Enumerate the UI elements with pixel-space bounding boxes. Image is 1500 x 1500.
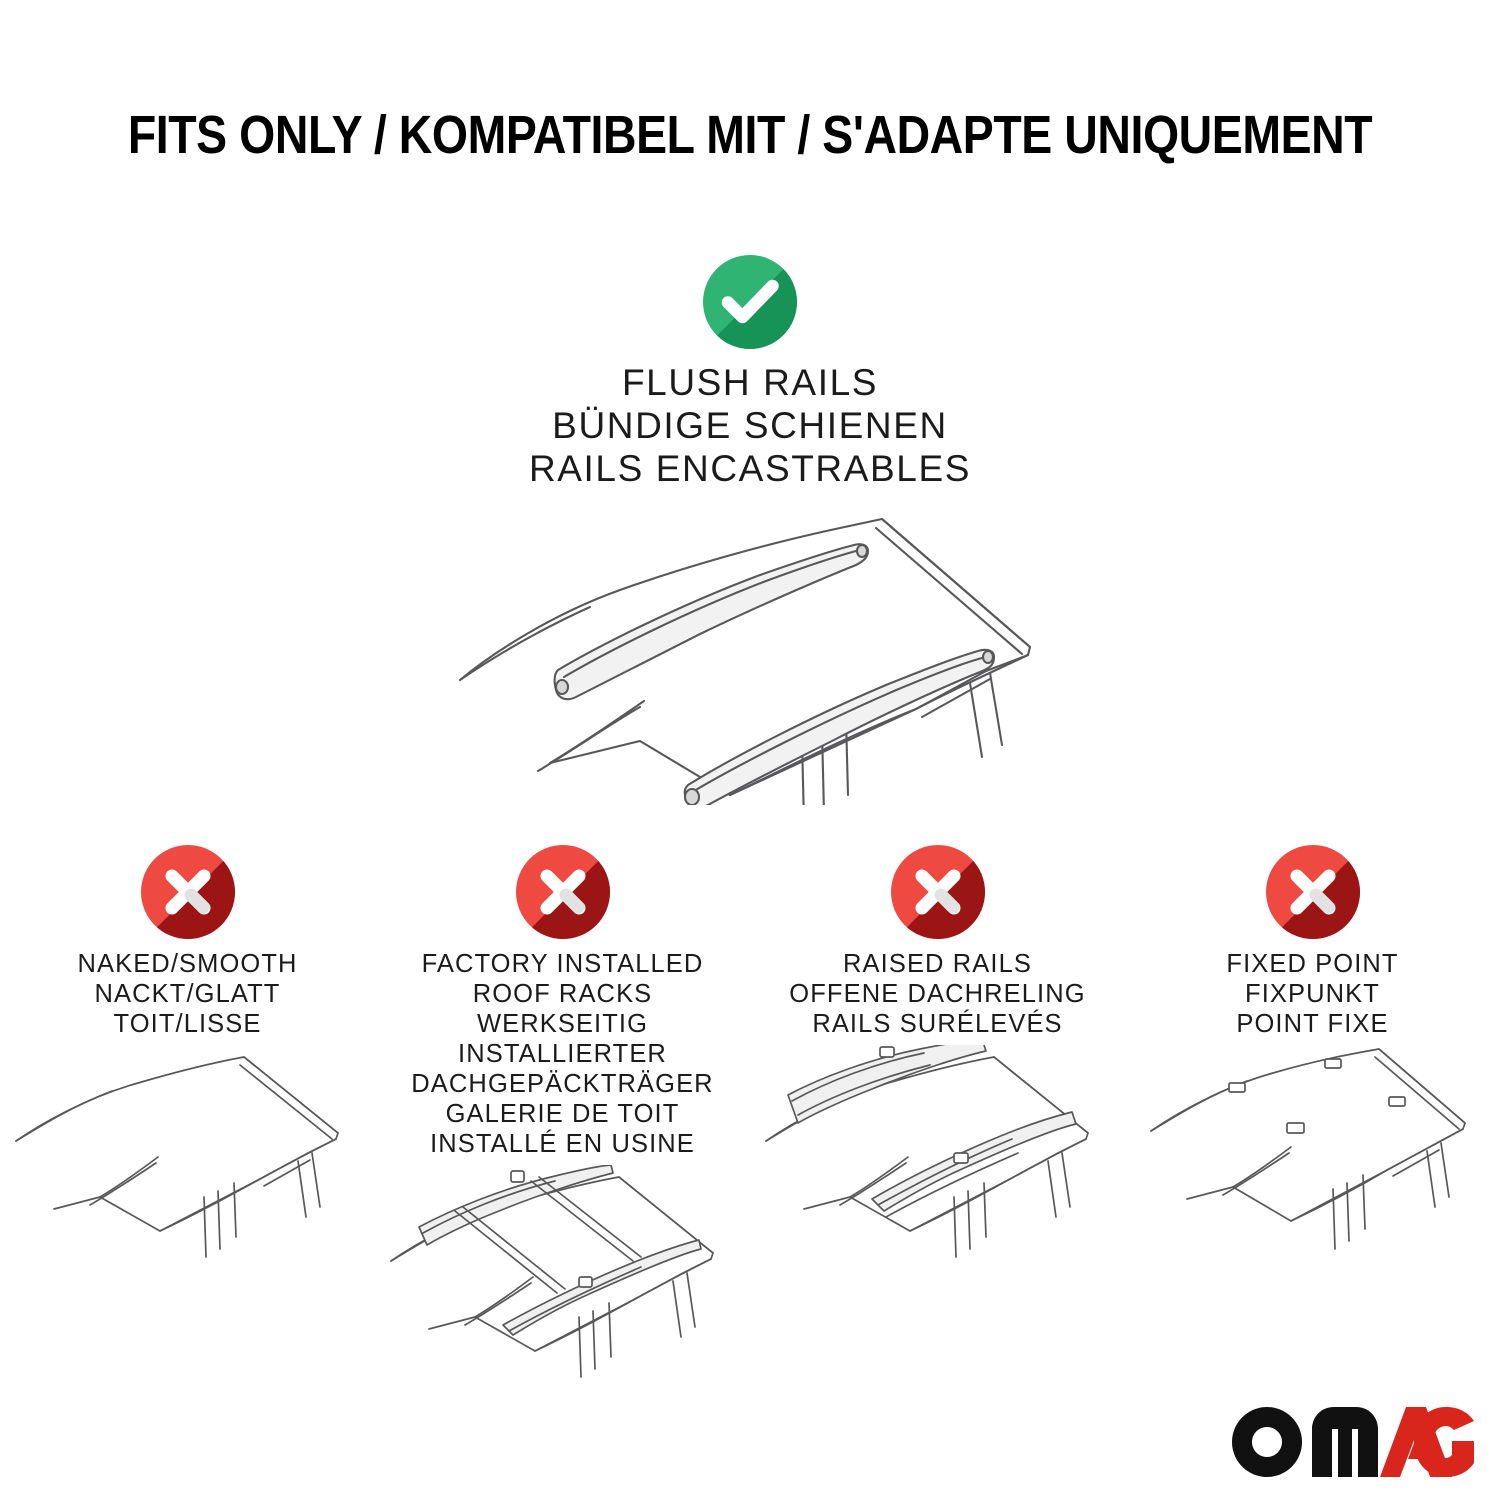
compatible-label-fr: RAILS ENCASTRABLES (0, 447, 1500, 490)
car-roof-with-factory-crossbars-illustration (383, 1165, 743, 1395)
label-de-1: WERKSEITIG INSTALLIERTER (381, 1009, 744, 1069)
incompatible-labels: NAKED/SMOOTH NACKT/GLATT TOIT/LISSE (71, 949, 303, 1039)
cross-mark-glyph (516, 845, 610, 939)
label-en: RAISED RAILS (789, 949, 1085, 979)
omac-logo: OMAC (1230, 1405, 1476, 1481)
compatible-label-en: FLUSH RAILS (0, 361, 1500, 404)
incompatible-labels: FACTORY INSTALLED ROOF RACKS WERKSEITIG … (375, 949, 750, 1159)
cross-circle-icon (1266, 845, 1360, 939)
cross-badge (141, 845, 235, 939)
cross-circle-icon (891, 845, 985, 939)
incompatible-item-raised-rails: RAISED RAILS OFFENE DACHRELING RAILS SUR… (750, 845, 1125, 1395)
cross-mark-glyph (1266, 845, 1360, 939)
label-en: FACTORY INSTALLED ROOF RACKS (381, 949, 744, 1009)
logo-text: OMAC (1476, 1405, 1477, 1406)
check-circle-icon (703, 255, 797, 349)
car-roof-bare-illustration (8, 1045, 368, 1275)
cross-badge (891, 845, 985, 939)
car-roof-with-raised-rails-illustration (758, 1045, 1118, 1275)
check-mark-glyph (703, 255, 797, 349)
car-roof-with-fixed-points-illustration (1143, 1045, 1483, 1275)
label-fr: POINT FIXE (1226, 1009, 1398, 1039)
incompatible-item-fixed-point: FIXED POINT FIXPUNKT POINT FIXE (1125, 845, 1500, 1395)
label-fr: RAILS SURÉLEVÉS (789, 1009, 1085, 1039)
compatible-section: FLUSH RAILS BÜNDIGE SCHIENEN RAILS ENCAS… (0, 255, 1500, 490)
label-en: FIXED POINT (1226, 949, 1398, 979)
cross-circle-icon (141, 845, 235, 939)
label-de: FIXPUNKT (1226, 979, 1398, 1009)
cross-mark-glyph (141, 845, 235, 939)
cross-badge (516, 845, 610, 939)
logo-letter-o (1232, 1407, 1302, 1477)
label-de: NACKT/GLATT (77, 979, 297, 1009)
label-fr: GALERIE DE TOIT INSTALLÉ EN USINE (381, 1099, 744, 1159)
fitment-infographic: FITS ONLY / KOMPATIBEL MIT / S'ADAPTE UN… (0, 0, 1500, 1500)
incompatible-labels: RAISED RAILS OFFENE DACHRELING RAILS SUR… (783, 949, 1091, 1039)
label-de-2: DACHGEPÄCKTRÄGER (381, 1069, 744, 1099)
label-en: NAKED/SMOOTH (77, 949, 297, 979)
page-title: FITS ONLY / KOMPATIBEL MIT / S'ADAPTE UN… (105, 104, 1395, 166)
label-de: OFFENE DACHRELING (789, 979, 1085, 1009)
cross-badge (1266, 845, 1360, 939)
logo-letter-m (1312, 1407, 1378, 1477)
compatible-label-de: BÜNDIGE SCHIENEN (0, 404, 1500, 447)
compatible-labels: FLUSH RAILS BÜNDIGE SCHIENEN RAILS ENCAS… (0, 361, 1500, 490)
logo-letter-c (1414, 1407, 1474, 1477)
omac-logo-mark (1230, 1405, 1476, 1481)
cross-circle-icon (516, 845, 610, 939)
car-roof-with-flush-rails-illustration (430, 495, 1070, 805)
check-badge (703, 255, 797, 349)
label-fr: TOIT/LISSE (77, 1009, 297, 1039)
incompatible-labels: FIXED POINT FIXPUNKT POINT FIXE (1220, 949, 1404, 1039)
incompatible-item-factory-racks: FACTORY INSTALLED ROOF RACKS WERKSEITIG … (375, 845, 750, 1395)
incompatible-section: NAKED/SMOOTH NACKT/GLATT TOIT/LISSE (0, 845, 1500, 1395)
cross-mark-glyph (891, 845, 985, 939)
incompatible-item-naked-smooth: NAKED/SMOOTH NACKT/GLATT TOIT/LISSE (0, 845, 375, 1395)
